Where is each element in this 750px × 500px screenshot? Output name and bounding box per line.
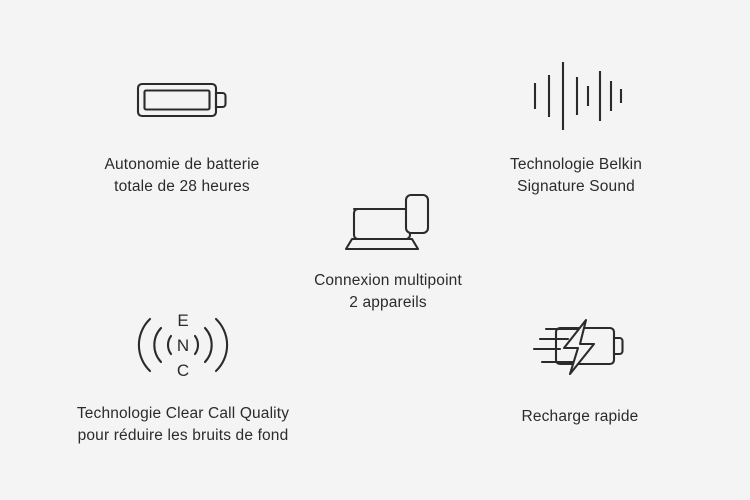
feature-item-battery-life: Autonomie de batterie totale de 28 heure… bbox=[62, 64, 302, 198]
battery-full-icon bbox=[132, 64, 232, 136]
battery-charging-icon bbox=[530, 316, 630, 378]
feature-board: Autonomie de batterie totale de 28 heure… bbox=[0, 0, 750, 500]
feature-caption-multipoint: Connexion multipoint 2 appareils bbox=[314, 270, 462, 314]
enc-waves-icon: E N C bbox=[133, 305, 233, 385]
enc-letter-e: E bbox=[177, 311, 188, 330]
feature-item-fast-charge: Recharge rapide bbox=[460, 316, 700, 428]
enc-letter-n: N bbox=[177, 336, 189, 355]
feature-caption-signature-sound: Technologie Belkin Signature Sound bbox=[510, 154, 642, 198]
feature-item-multipoint: Connexion multipoint 2 appareils bbox=[268, 190, 508, 314]
feature-caption-battery-life: Autonomie de batterie totale de 28 heure… bbox=[105, 154, 260, 198]
feature-caption-fast-charge: Recharge rapide bbox=[522, 406, 639, 428]
enc-letter-c: C bbox=[177, 361, 189, 380]
sound-wave-icon bbox=[528, 56, 624, 136]
feature-caption-clear-call: Technologie Clear Call Quality pour rédu… bbox=[77, 403, 289, 447]
feature-item-signature-sound: Technologie Belkin Signature Sound bbox=[456, 56, 696, 198]
feature-item-clear-call: E N C Technologie Clear Call Quality pou… bbox=[63, 305, 303, 447]
laptop-phone-icon bbox=[342, 190, 434, 252]
